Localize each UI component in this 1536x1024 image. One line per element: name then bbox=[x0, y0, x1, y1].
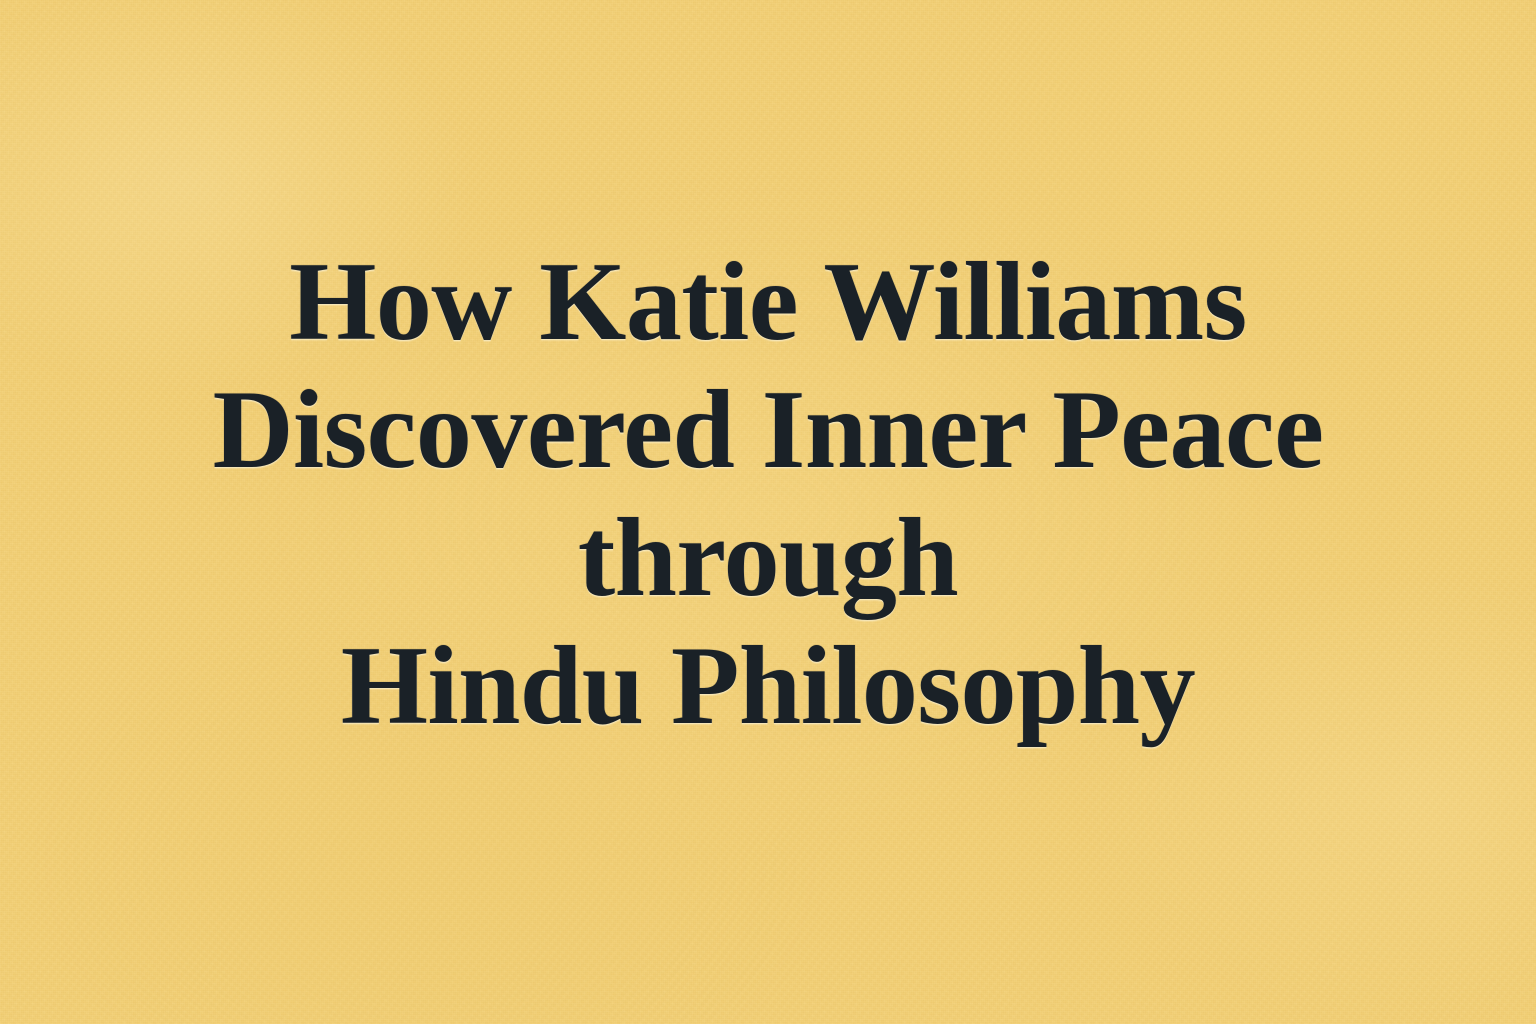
headline-line-4: Hindu Philosophy bbox=[98, 622, 1438, 750]
headline-line-2: Discovered Inner Peace bbox=[98, 366, 1438, 494]
headline-line-1: How Katie Williams bbox=[98, 238, 1438, 366]
headline-line-3: through bbox=[98, 494, 1438, 622]
page-title: How Katie Williams Discovered Inner Peac… bbox=[98, 238, 1438, 750]
title-card: How Katie Williams Discovered Inner Peac… bbox=[0, 0, 1536, 1024]
